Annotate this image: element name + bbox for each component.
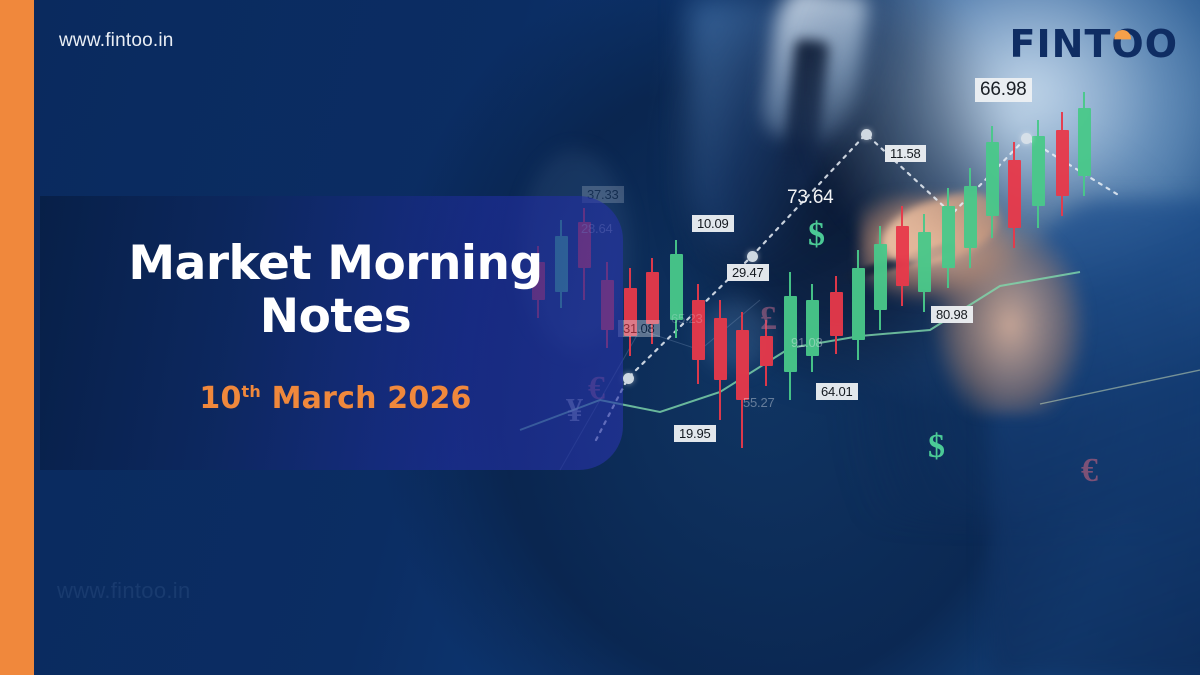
candle-body — [896, 226, 909, 286]
page-title-line2: Notes — [260, 289, 411, 344]
candle-body — [942, 206, 955, 268]
price-label: 55.27 — [738, 394, 780, 411]
pointer-ray — [1040, 370, 1200, 404]
candlestick — [736, 312, 749, 448]
price-label: 31.08 — [618, 320, 660, 337]
date-day: 10 — [199, 381, 241, 416]
candlestick — [1056, 112, 1069, 216]
price-label: 65.23 — [666, 310, 708, 327]
candlestick — [714, 300, 727, 420]
price-label: 80.98 — [931, 306, 973, 323]
trend-node — [747, 251, 758, 262]
candle-body — [1078, 108, 1091, 176]
candle-body — [1032, 136, 1045, 206]
site-url-text[interactable]: www.fintoo.in — [59, 30, 174, 52]
candle-body — [830, 292, 843, 336]
price-label: 73.64 — [782, 186, 839, 210]
trend-node — [623, 373, 634, 384]
publication-date: 10th March 2026 — [94, 381, 577, 416]
price-label: 19.95 — [674, 425, 716, 442]
candlestick — [692, 284, 705, 384]
date-ordinal-suffix: th — [242, 382, 261, 401]
candlestick — [1032, 120, 1045, 228]
trend-node — [861, 129, 872, 140]
candlestick — [986, 126, 999, 238]
date-month-year: March 2026 — [261, 381, 472, 416]
watermark-text: www.fintoo.in — [57, 578, 191, 604]
candlestick — [964, 168, 977, 268]
candle-body — [736, 330, 749, 400]
currency-symbol: £ — [760, 300, 777, 338]
candle-body — [918, 232, 931, 292]
logo-text-main: FINT — [1010, 22, 1112, 66]
candlestick — [830, 276, 843, 354]
candlestick — [1008, 142, 1021, 248]
candlestick — [874, 226, 887, 330]
price-label: 29.47 — [727, 264, 769, 281]
slide-canvas: $$€£¥€ 66.9811.5873.6410.0929.4780.9864.… — [0, 0, 1200, 675]
candlestick — [942, 188, 955, 288]
candlestick — [806, 284, 819, 372]
price-label: 91.08 — [786, 334, 828, 351]
candle-body — [852, 268, 865, 340]
logo-o-accent-icon: O — [1111, 22, 1144, 66]
logo-text-o2: O — [1145, 22, 1178, 66]
candle-body — [986, 142, 999, 216]
candle-body — [646, 272, 659, 324]
candle-body — [692, 300, 705, 360]
candle-body — [760, 336, 773, 366]
price-label: 66.98 — [975, 78, 1032, 102]
price-label: 11.58 — [885, 145, 926, 162]
candlestick — [624, 268, 637, 356]
left-accent-bar — [0, 0, 34, 675]
page-title-line1: Market Morning — [128, 236, 542, 291]
candlestick — [852, 250, 865, 360]
price-label: 64.01 — [816, 383, 858, 400]
currency-symbol: € — [1081, 452, 1098, 490]
candle-body — [1008, 160, 1021, 228]
candle-body — [964, 186, 977, 248]
candlestick — [1078, 92, 1091, 196]
currency-symbol: $ — [928, 428, 945, 466]
candle-body — [1056, 130, 1069, 196]
candlestick — [918, 214, 931, 312]
currency-symbol: $ — [808, 216, 825, 254]
headline-card: Market Morning Notes 10th March 2026 — [40, 196, 623, 470]
page-title: Market Morning Notes — [94, 238, 577, 343]
candle-body — [714, 318, 727, 380]
candlestick — [896, 206, 909, 306]
candle-body — [874, 244, 887, 310]
trend-node — [1021, 133, 1032, 144]
price-label: 10.09 — [692, 215, 734, 232]
fintoo-logo[interactable]: FINTOO — [1010, 22, 1178, 66]
